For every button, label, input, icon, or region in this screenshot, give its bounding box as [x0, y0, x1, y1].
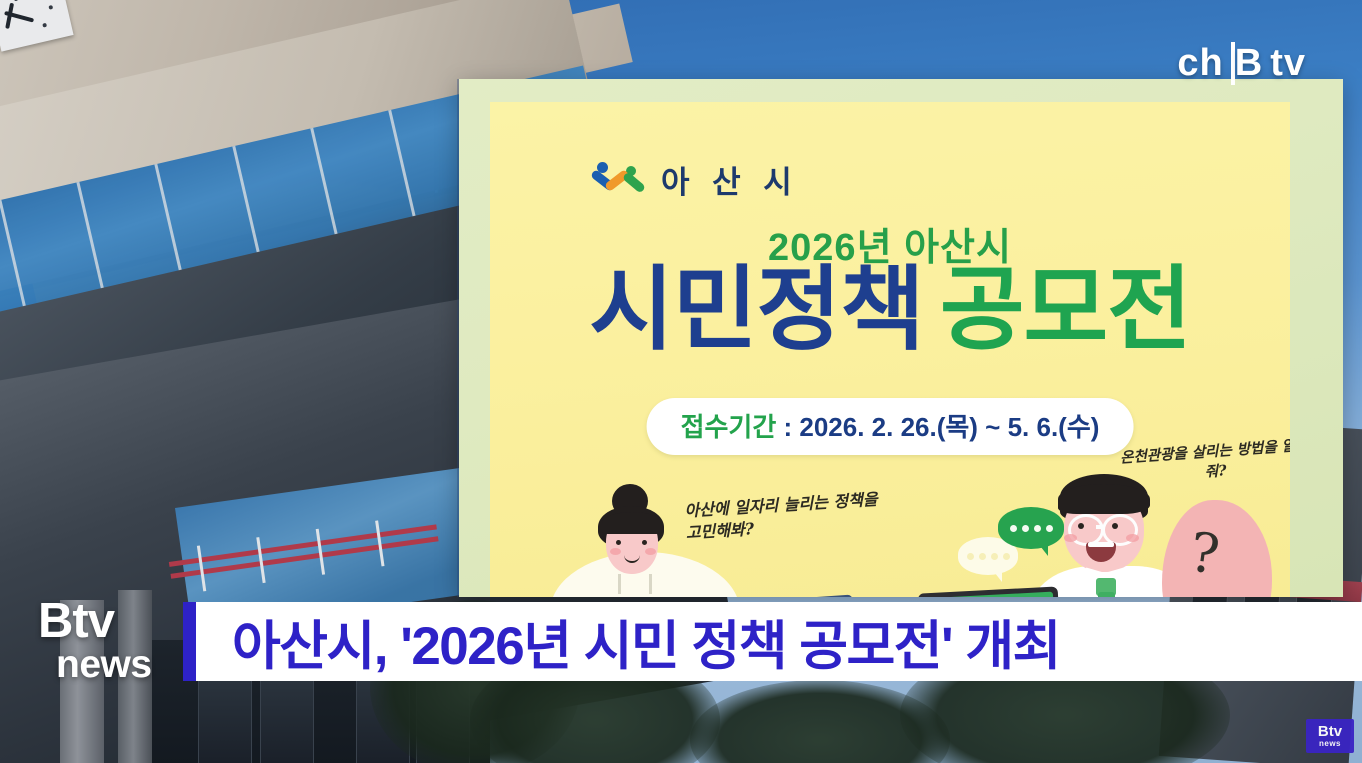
- channel-logo-b: B: [1231, 42, 1263, 85]
- news-headline: 아산시, '2026년 시민 정책 공모전' 개최: [232, 604, 1060, 680]
- channel-logo-prefix: ch: [1177, 42, 1223, 85]
- poster-panel: 아 산 시 2026년 아산시 시민정책공모전 접수기간 : 2026. 2. …: [490, 102, 1290, 597]
- station-bug: Btv news: [38, 598, 152, 684]
- lower-third-banner: 아산시, '2026년 시민 정책 공모전' 개최: [183, 602, 1362, 681]
- submission-period-pill: 접수기간 : 2026. 2. 26.(목) ~ 5. 6.(수): [647, 398, 1134, 455]
- station-bug-line1: Btv: [38, 598, 152, 645]
- channel-logo: ch B tv: [1177, 42, 1306, 85]
- submission-period-value: : 2026. 2. 26.(목) ~ 5. 6.(수): [784, 412, 1100, 442]
- poster-title-navy: 시민정책: [589, 259, 924, 361]
- asan-city-logo-text: 아 산 시: [661, 157, 799, 202]
- corner-watermark-line2: news: [1319, 739, 1341, 748]
- submission-period-label: 접수기간: [681, 412, 777, 442]
- poster-title: 시민정책공모전: [490, 262, 1290, 359]
- corner-watermark: Btv news: [1306, 719, 1354, 753]
- asan-logo-mark-icon: [590, 162, 648, 198]
- channel-logo-suffix: tv: [1270, 42, 1306, 85]
- corner-watermark-line1: Btv: [1318, 724, 1342, 739]
- poster-title-green: 공모전: [940, 259, 1191, 361]
- illustration-laptop-green: [918, 586, 1063, 597]
- station-bug-line2: news: [56, 645, 152, 684]
- asan-city-logo: 아 산 시: [590, 157, 799, 202]
- event-poster: 아 산 시 2026년 아산시 시민정책공모전 접수기간 : 2026. 2. …: [459, 79, 1343, 597]
- broadcast-screenshot: 아 산 시 2026년 아산시 시민정책공모전 접수기간 : 2026. 2. …: [0, 0, 1362, 763]
